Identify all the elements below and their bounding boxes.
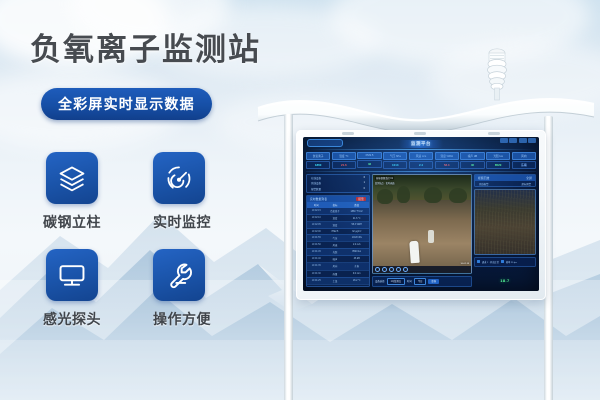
capture-icon[interactable] <box>389 267 394 272</box>
feature-item-photosensitive-probe[interactable]: 感光探头 <box>46 249 98 329</box>
product-banner: 监测平台 负氧离子 1860 温度 ℃ 21.6 PM2.5 3 <box>0 0 600 400</box>
led-display-panel[interactable]: 监测平台 负氧离子 1860 温度 ℃ 21.6 PM2.5 3 <box>296 130 546 300</box>
header-divider <box>307 149 535 150</box>
video-osd-title: 前端视频监控 01 <box>375 176 394 180</box>
fullscreen-icon[interactable] <box>403 267 408 272</box>
video-person <box>409 241 420 264</box>
video-tree <box>449 188 467 204</box>
feature-row: 碳钢立柱 实时监控 <box>46 152 256 232</box>
video-feed-primary[interactable]: 前端视频监控 01 监测站点 · 实时画面 10:02:18 <box>372 174 472 274</box>
play-icon[interactable] <box>375 267 380 272</box>
dashboard-header: 监测平台 <box>303 137 539 150</box>
header-tag <box>307 139 343 147</box>
dashboard-title: 监测平台 <box>399 140 443 148</box>
header-controls[interactable] <box>500 138 537 143</box>
dashboard-screen[interactable]: 监测平台 负氧离子 1860 温度 ℃ 21.6 PM2.5 3 <box>303 137 539 291</box>
center-column: 前端视频监控 01 监测站点 · 实时画面 10:02:18 <box>372 174 472 287</box>
video-tree <box>377 189 393 205</box>
layers-icon <box>46 152 98 204</box>
feature-label: 感光探头 <box>43 309 98 329</box>
video-tree <box>424 187 442 204</box>
feature-item-easy-operation[interactable]: 操作方便 <box>153 249 205 329</box>
video-noise <box>475 190 535 253</box>
feature-item-realtime-monitoring[interactable]: 实时监控 <box>153 152 205 232</box>
video-feed-secondary[interactable] <box>474 189 536 254</box>
feature-label: 碳钢立柱 <box>43 212 98 232</box>
feature-item-carbon-steel-column[interactable]: 碳钢立柱 <box>46 152 98 232</box>
radar-monitor-icon <box>153 152 205 204</box>
wrench-icon <box>153 249 205 301</box>
video-person <box>428 230 434 243</box>
support-post-left <box>284 114 293 400</box>
pause-icon[interactable] <box>382 267 387 272</box>
feature-label: 实时监控 <box>153 212 205 232</box>
subtitle-badge: 全彩屏实时显示数据 <box>41 88 212 120</box>
record-icon[interactable] <box>396 267 401 272</box>
feature-row: 感光探头 操作方便 <box>46 249 256 329</box>
feature-label: 操作方便 <box>153 309 205 329</box>
video-tree <box>397 186 411 204</box>
monitoring-station-structure: 监测平台 负氧离子 1860 温度 ℃ 21.6 PM2.5 3 <box>252 52 600 400</box>
bezel-clip <box>488 132 500 135</box>
display-monitor-icon <box>46 249 98 301</box>
video-timestamp: 10:02:18 <box>460 263 469 265</box>
feature-grid: 碳钢立柱 实时监控 <box>46 152 256 346</box>
page-title: 负氧离子监测站 <box>30 24 261 69</box>
bezel-clip <box>342 132 354 135</box>
bezel-clip <box>414 132 426 135</box>
video-toolbar[interactable] <box>373 266 471 273</box>
video-osd-subtitle: 监测站点 · 实时画面 <box>375 181 394 185</box>
